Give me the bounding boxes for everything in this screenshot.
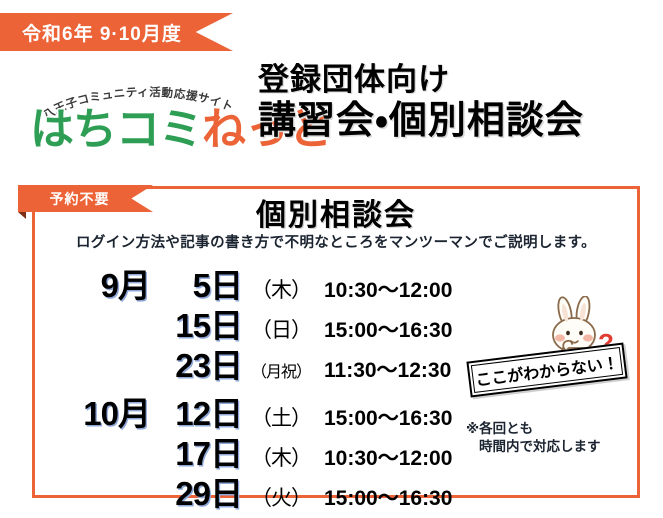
schedule-time: 15:00〜16:30 [320,402,452,432]
period-ribbon: 令和6年 9·10月度 [0,13,233,51]
rabbit-eye-left [566,331,570,336]
rabbit-eye-right [579,331,583,336]
schedule-month: 10月 [46,387,150,435]
schedule-weekday: （日） [242,314,320,344]
rabbit-cheek-right [583,334,593,341]
schedule-weekday: （土） [242,402,320,432]
schedule-weekday: （月祝） [242,358,320,382]
period-ribbon-label: 令和6年 9·10月度 [22,19,182,46]
schedule-note-line2: 時間内で対応します [466,438,601,456]
site-logo: 八王子コミュニティ活動応援サイト はちコミねっと [30,86,258,161]
panel-description: ログイン方法や記事の書き方で不明なところをマンツーマンでご説明します。 [32,231,640,252]
schedule-row: 10月 12日 （土） 15:00〜16:30 [46,387,476,427]
schedule-row: 23日 （月祝） 11:30〜12:30 [46,339,476,379]
schedule-weekday: （木） [242,442,320,472]
schedule-list: 9月 5日 （木） 10:30〜12:00 15日 （日） 15:00〜16:3… [46,259,476,507]
schedule-note: ※各回とも 時間内で対応します [466,420,601,456]
logo-wordmark: はちコミねっと [30,108,258,152]
no-reservation-label: 予約不要 [50,189,110,209]
schedule-row: 29日 （火） 15:00〜16:30 [46,467,476,507]
schedule-weekday: （木） [242,274,320,304]
headline: 登録団体向け 講習会・個別相談会 [258,64,658,140]
schedule-time: 11:30〜12:30 [320,354,451,384]
logo-wordmark-green: はちコミ [30,105,202,154]
schedule-time: 15:00〜16:30 [320,482,452,512]
headline-subtitle: 登録団体向け [258,64,658,95]
headline-title: 講習会・個別相談会 [258,102,658,140]
schedule-note-line1: ※各回とも [466,421,533,436]
schedule-time: 15:00〜16:30 [320,314,452,344]
schedule-day: 23日 [150,339,242,387]
schedule-weekday: （火） [242,482,320,512]
rabbit-cheek-left [555,334,565,341]
schedule-month: 9月 [46,259,150,307]
schedule-time: 10:30〜12:00 [320,274,452,304]
schedule-day: 29日 [150,467,242,515]
schedule-row: 9月 5日 （木） 10:30〜12:00 [46,259,476,299]
ribbon-fold [18,212,26,219]
schedule-time: 10:30〜12:00 [320,442,452,472]
